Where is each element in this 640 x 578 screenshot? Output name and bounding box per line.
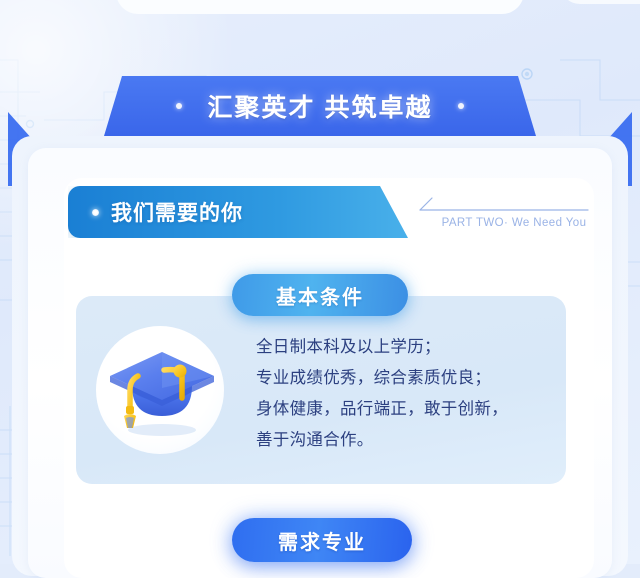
section-bullet-icon — [92, 209, 99, 216]
required-major-pill[interactable]: 需求专业 — [232, 518, 412, 562]
top-white-tab — [116, 0, 524, 14]
banner-dot-left-icon — [176, 103, 182, 109]
section-caption: PART TWO· We Need You — [418, 196, 598, 229]
caption-line-icon — [418, 196, 590, 212]
caption-rule — [418, 196, 598, 212]
condition-line: 身体健康，品行端正，敢于创新， — [256, 394, 556, 425]
section-title: 我们需要的你 — [111, 197, 243, 227]
banner-title: 汇聚英才 共筑卓越 — [208, 88, 433, 124]
condition-line: 全日制本科及以上学历； — [256, 332, 556, 363]
basic-conditions-pill[interactable]: 基本条件 — [232, 274, 408, 316]
graduation-cap-icon — [96, 326, 224, 454]
banner-dot-right-icon — [458, 103, 464, 109]
main-banner-content: 汇聚英才 共筑卓越 — [104, 76, 536, 136]
caption-text: PART TWO· We Need You — [418, 217, 598, 229]
condition-line: 善于沟通合作。 — [256, 425, 556, 456]
section-header-content: 我们需要的你 — [68, 186, 243, 238]
graduation-cap-glyph — [102, 338, 222, 442]
basic-conditions-text: 全日制本科及以上学历； 专业成绩优秀，综合素质优良； 身体健康，品行端正，敢于创… — [256, 332, 556, 456]
condition-line: 专业成绩优秀，综合素质优良； — [256, 363, 556, 394]
